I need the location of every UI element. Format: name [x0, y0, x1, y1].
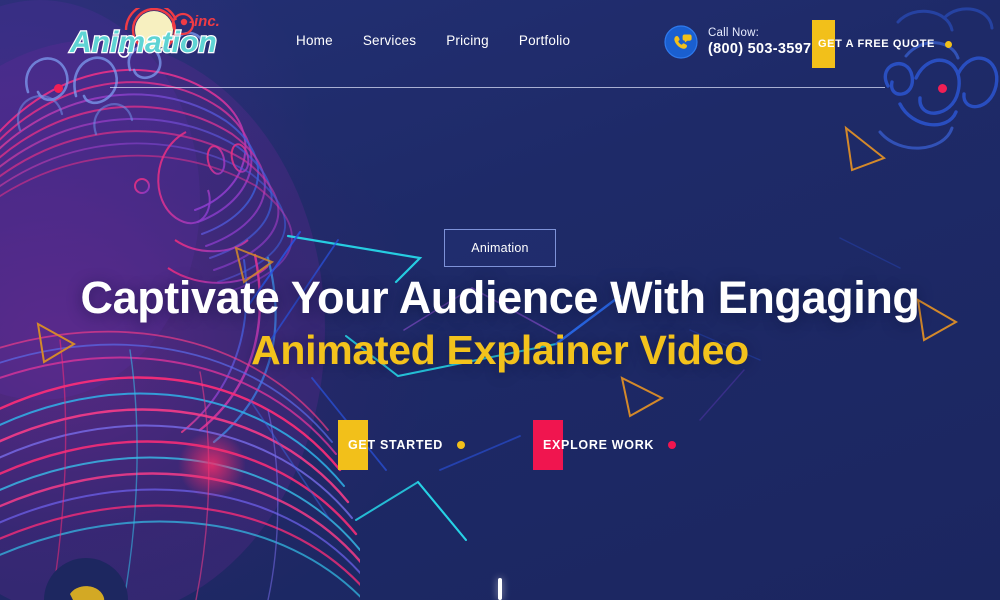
- nav-item-services[interactable]: Services: [363, 33, 416, 48]
- explore-work-dot: [668, 441, 676, 449]
- scroll-down-indicator[interactable]: [498, 578, 502, 600]
- get-started-label: GET STARTED: [348, 438, 443, 452]
- call-now-label: Call Now:: [708, 26, 811, 40]
- quote-button-dot: [945, 41, 952, 48]
- hero-headline-line-1: Captivate Your Audience With Engaging: [0, 272, 1000, 324]
- logo-artwork: -inc. Animation: [62, 8, 254, 64]
- hero-headline-line-2: Animated Explainer Video: [0, 327, 1000, 374]
- explore-work-label: EXPLORE WORK: [543, 438, 654, 452]
- site-logo[interactable]: -inc. Animation: [62, 8, 254, 64]
- divider-dot-right: [938, 84, 947, 93]
- nav-item-pricing[interactable]: Pricing: [446, 33, 489, 48]
- get-started-dot: [457, 441, 465, 449]
- explore-work-button[interactable]: EXPLORE WORK: [533, 420, 676, 470]
- hero-section: -inc. Animation Home Services Pricing Po…: [0, 0, 1000, 600]
- hero-cta-row: GET STARTED EXPLORE WORK: [338, 420, 676, 470]
- nav-item-home[interactable]: Home: [296, 33, 333, 48]
- primary-navigation: Home Services Pricing Portfolio: [296, 33, 570, 48]
- nav-item-portfolio[interactable]: Portfolio: [519, 33, 570, 48]
- header-divider: [110, 87, 885, 88]
- site-header: -inc. Animation Home Services Pricing Po…: [0, 0, 1000, 86]
- phone-call-icon: [664, 25, 698, 59]
- hero-category-badge[interactable]: Animation: [444, 229, 556, 267]
- logo-wordmark: Animation: [69, 26, 217, 59]
- call-now-number: (800) 503-3597: [708, 40, 811, 58]
- get-started-button[interactable]: GET STARTED: [338, 420, 465, 470]
- call-now-block[interactable]: Call Now: (800) 503-3597: [664, 25, 811, 59]
- get-a-free-quote-button[interactable]: GET A FREE QUOTE: [812, 20, 952, 68]
- quote-button-label: GET A FREE QUOTE: [818, 38, 935, 50]
- divider-dot-left: [54, 84, 63, 93]
